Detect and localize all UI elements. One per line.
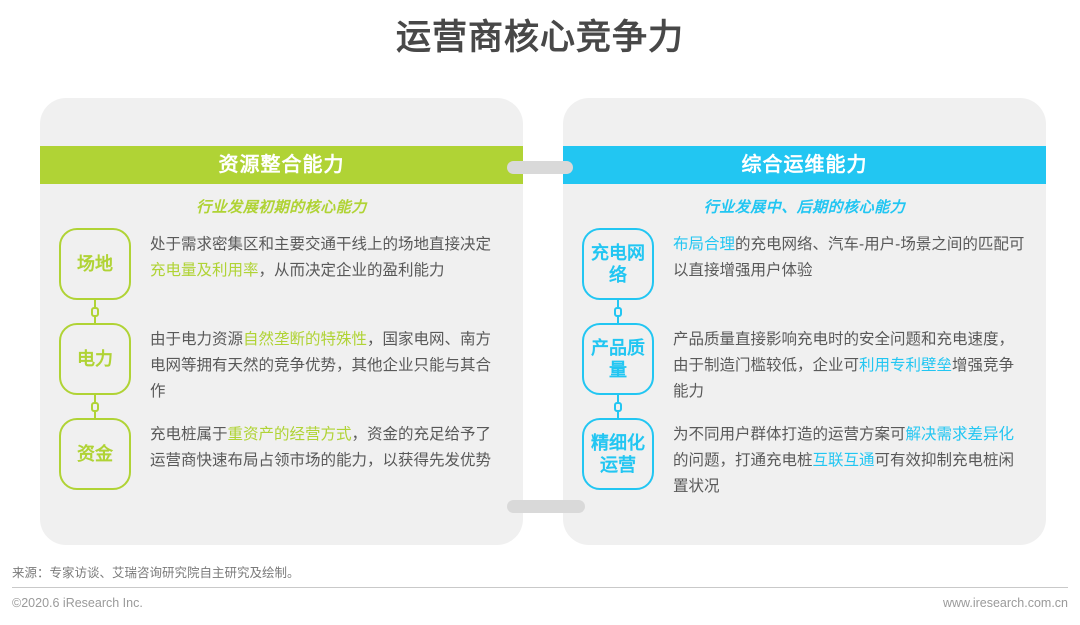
pill-label[interactable]: 充电网络 — [582, 228, 654, 300]
chain-link-icon — [617, 300, 619, 323]
panel-subtitle-left: 行业发展初期的核心能力 — [40, 196, 523, 217]
footer-bar: ©2020.6 iResearch Inc. www.iresearch.com… — [12, 596, 1068, 610]
body-text: ，从而决定企业的盈利能力 — [259, 262, 445, 279]
highlighted-text: 自然垄断的特殊性 — [243, 331, 367, 348]
panel-header-left: 资源整合能力 — [40, 146, 523, 184]
copyright-text: ©2020.6 iResearch Inc. — [12, 596, 143, 610]
pill-wrap: 电力 — [40, 323, 150, 395]
highlighted-text: 布局合理 — [673, 236, 735, 253]
website-link[interactable]: www.iresearch.com.cn — [943, 596, 1068, 610]
pill-wrap: 精细化运营 — [563, 418, 673, 490]
rows-left: 场地 处于需求密集区和主要交通干线上的场地直接决定充电量及利用率，从而决定企业的… — [40, 228, 523, 513]
source-note: 来源：专家访谈、艾瑞咨询研究院自主研究及绘制。 — [12, 562, 1068, 588]
pill-label[interactable]: 资金 — [59, 418, 131, 490]
highlighted-text: 互联互通 — [813, 452, 875, 469]
panel-subtitle-right: 行业发展中、后期的核心能力 — [563, 196, 1046, 217]
body-text: 处于需求密集区和主要交通干线上的场地直接决定 — [150, 236, 491, 253]
list-item: 场地 处于需求密集区和主要交通干线上的场地直接决定充电量及利用率，从而决定企业的… — [40, 228, 523, 323]
pill-label[interactable]: 场地 — [59, 228, 131, 300]
pill-wrap: 充电网络 — [563, 228, 673, 300]
row-description: 为不同用户群体打造的运营方案可解决需求差异化的问题，打通充电桩互联互通可有效抑制… — [673, 418, 1046, 500]
panel-header-right: 综合运维能力 — [563, 146, 1046, 184]
pill-wrap: 产品质量 — [563, 323, 673, 395]
pill-wrap: 场地 — [40, 228, 150, 300]
highlighted-text: 重资产的经营方式 — [228, 426, 352, 443]
list-item: 资金 充电桩属于重资产的经营方式，资金的充足给予了运营商快速布局占领市场的能力，… — [40, 418, 523, 513]
panel-connector-bottom — [507, 500, 585, 513]
panel-resource-integration: 资源整合能力 行业发展初期的核心能力 场地 处于需求密集区和主要交通干线上的场地… — [40, 98, 523, 545]
row-description: 产品质量直接影响充电时的安全问题和充电速度，由于制造门槛较低，企业可利用专利壁垒… — [673, 323, 1046, 405]
list-item: 电力 由于电力资源自然垄断的特殊性，国家电网、南方电网等拥有天然的竞争优势，其他… — [40, 323, 523, 418]
page-title: 运营商核心竞争力 — [0, 14, 1080, 62]
list-item: 充电网络 布局合理的充电网络、汽车-用户-场景之间的匹配可以直接增强用户体验 — [563, 228, 1046, 323]
pill-wrap: 资金 — [40, 418, 150, 490]
row-description: 由于电力资源自然垄断的特殊性，国家电网、南方电网等拥有天然的竞争优势，其他企业只… — [150, 323, 523, 405]
chain-link-icon — [94, 395, 96, 418]
highlighted-text: 充电量及利用率 — [150, 262, 259, 279]
rows-right: 充电网络 布局合理的充电网络、汽车-用户-场景之间的匹配可以直接增强用户体验 产… — [563, 228, 1046, 513]
pill-label[interactable]: 精细化运营 — [582, 418, 654, 490]
body-text: 为不同用户群体打造的运营方案可 — [673, 426, 906, 443]
highlighted-text: 解决需求差异化 — [906, 426, 1015, 443]
pill-label[interactable]: 电力 — [59, 323, 131, 395]
body-text: 由于电力资源 — [150, 331, 243, 348]
chain-link-icon — [617, 395, 619, 418]
body-text: 的问题，打通充电桩 — [673, 452, 813, 469]
chain-link-icon — [94, 300, 96, 323]
panel-operations-maintenance: 综合运维能力 行业发展中、后期的核心能力 充电网络 布局合理的充电网络、汽车-用… — [563, 98, 1046, 545]
row-description: 处于需求密集区和主要交通干线上的场地直接决定充电量及利用率，从而决定企业的盈利能… — [150, 228, 523, 284]
row-description: 充电桩属于重资产的经营方式，资金的充足给予了运营商快速布局占领市场的能力，以获得… — [150, 418, 523, 474]
body-text: 充电桩属于 — [150, 426, 228, 443]
panel-connector-top — [507, 161, 573, 174]
list-item: 产品质量 产品质量直接影响充电时的安全问题和充电速度，由于制造门槛较低，企业可利… — [563, 323, 1046, 418]
row-description: 布局合理的充电网络、汽车-用户-场景之间的匹配可以直接增强用户体验 — [673, 228, 1046, 284]
highlighted-text: 利用专利壁垒 — [859, 357, 952, 374]
pill-label[interactable]: 产品质量 — [582, 323, 654, 395]
list-item: 精细化运营 为不同用户群体打造的运营方案可解决需求差异化的问题，打通充电桩互联互… — [563, 418, 1046, 513]
